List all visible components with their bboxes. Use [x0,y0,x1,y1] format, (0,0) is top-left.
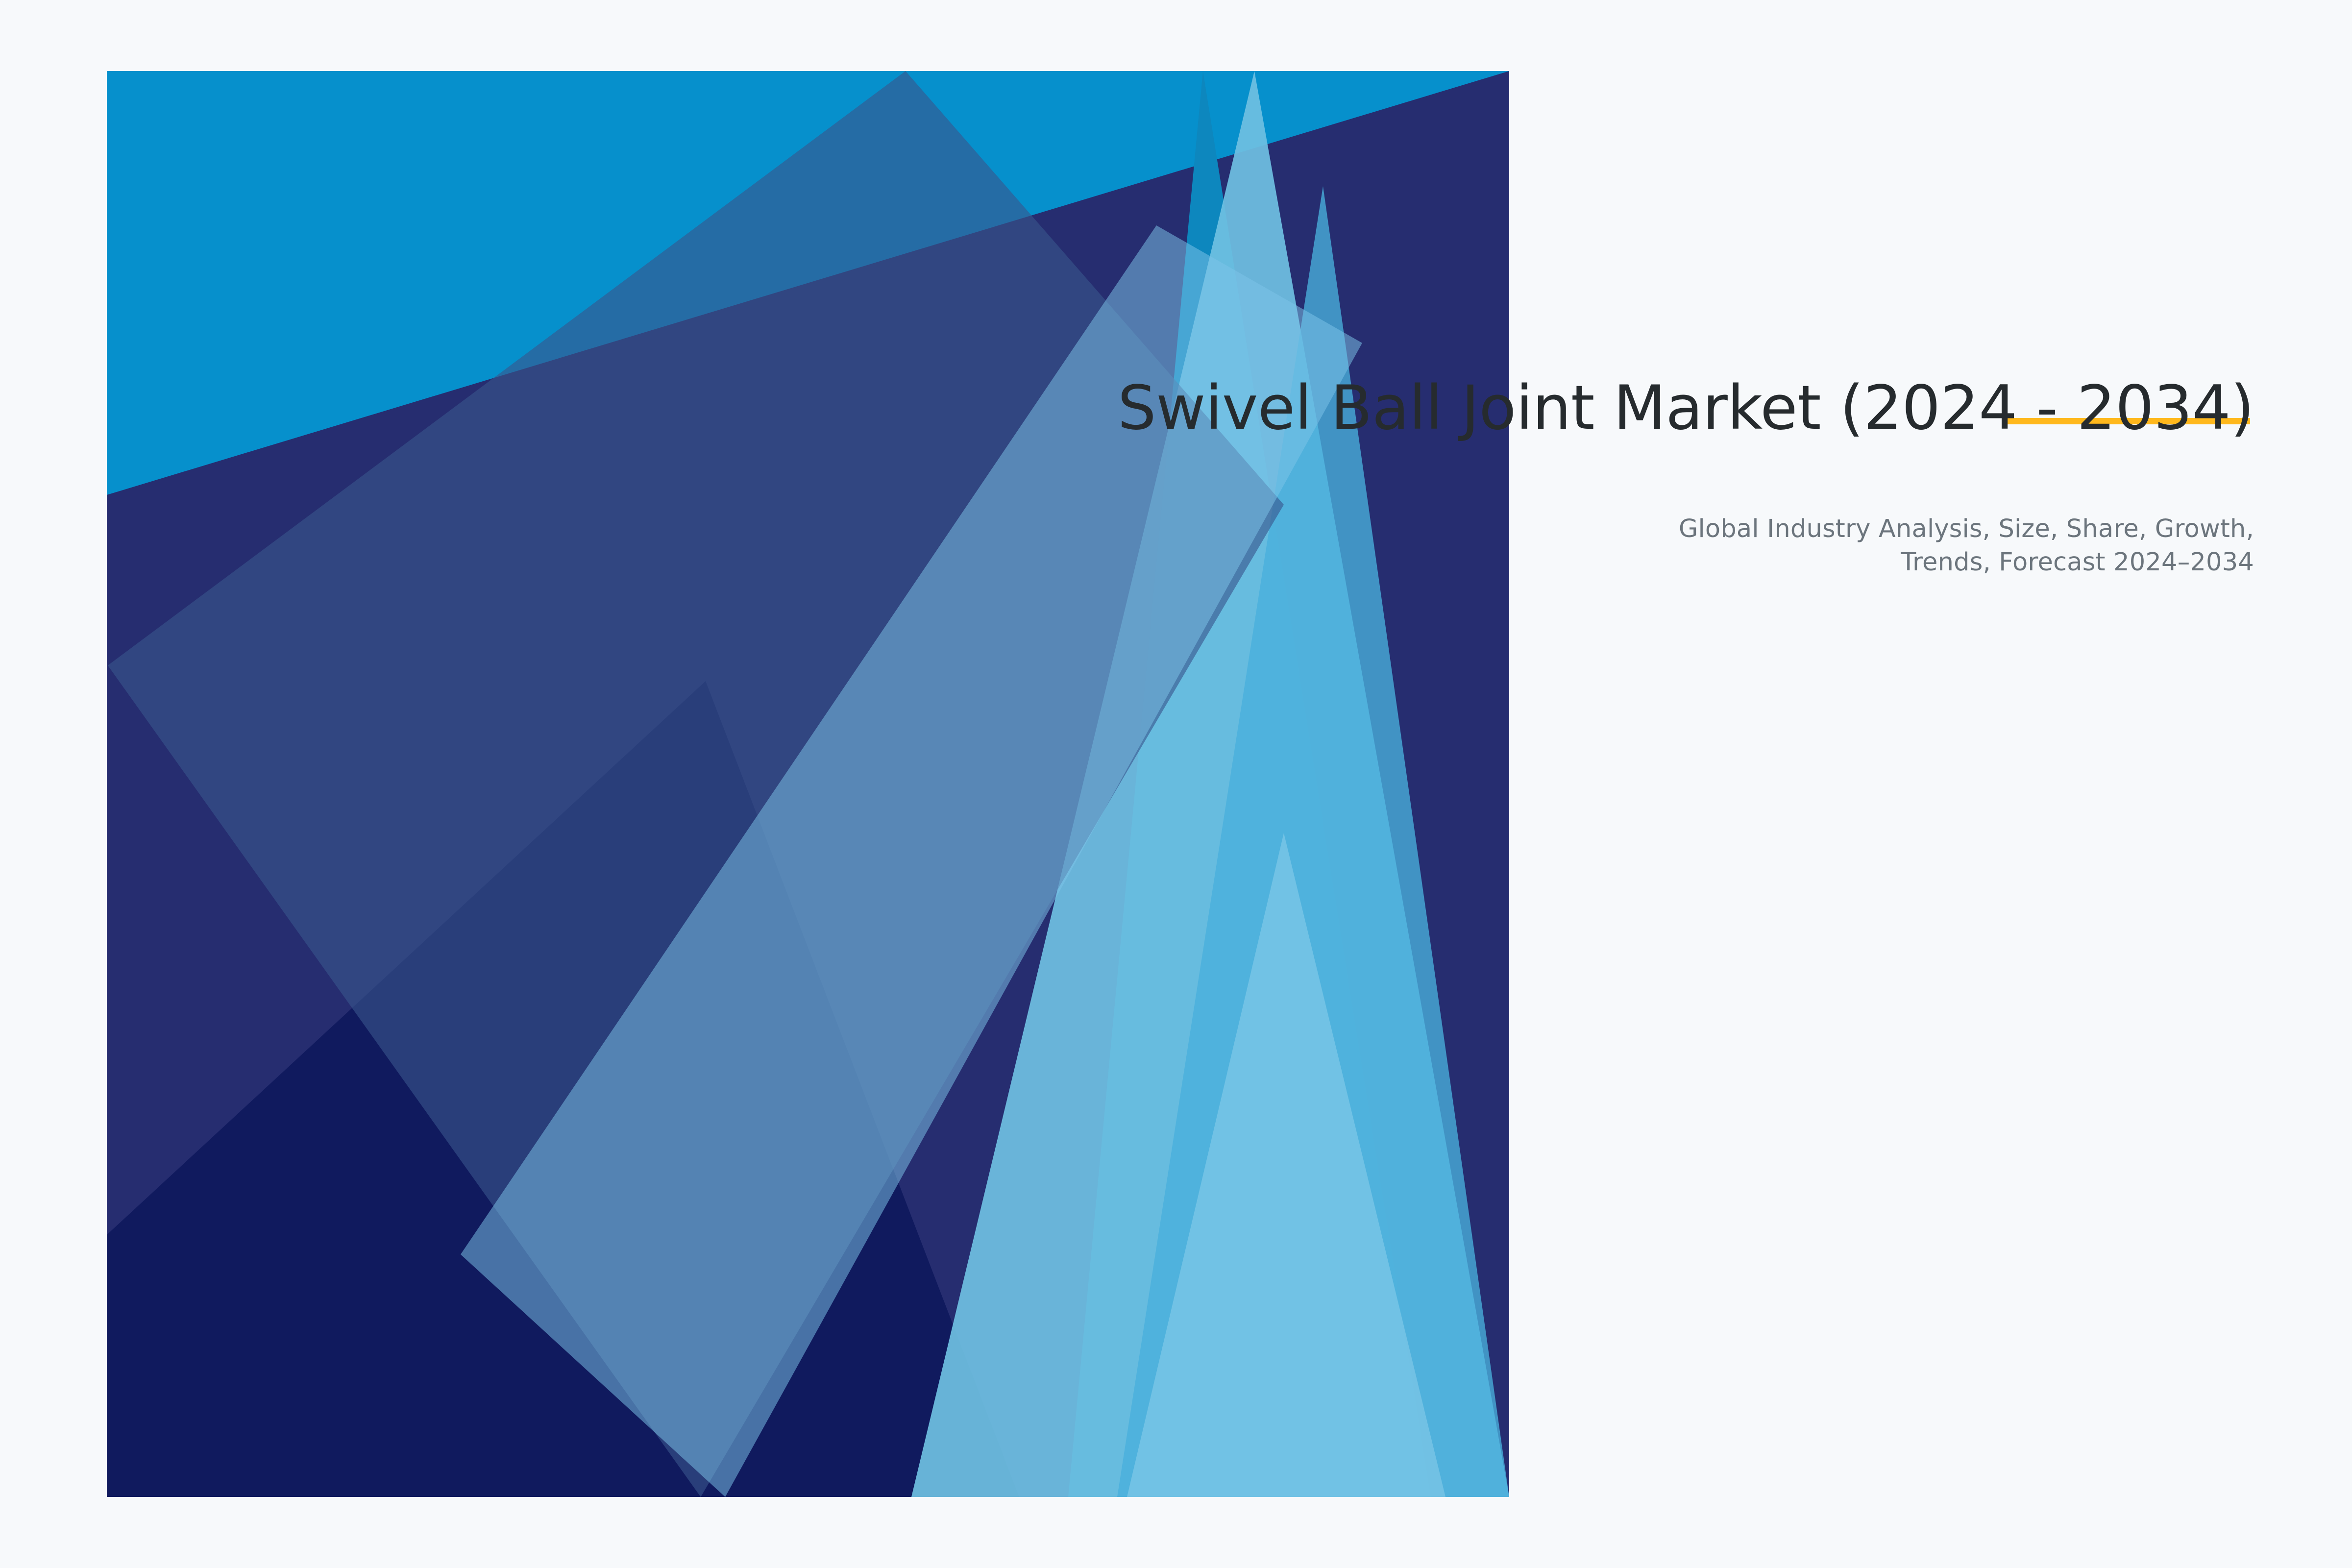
artwork-svg [0,0,2352,1568]
cover-text-block: Swivel Ball Joint Market (2024 - 2034) G… [1053,372,2254,579]
shape-slate-quad [108,71,1284,1497]
shape-deep-navy-mass [107,681,1019,1497]
page-title: Swivel Ball Joint Market (2024 - 2034) [1053,372,2254,445]
shape-sky-blue-band [911,71,1509,1497]
abstract-geometric-artwork [0,0,2352,1568]
title-wrapper: Swivel Ball Joint Market (2024 - 2034) [1053,372,2254,445]
report-cover: Swivel Ball Joint Market (2024 - 2034) G… [0,0,2352,1568]
shape-cyan-wedge [1068,71,1431,1497]
shape-pale-notch [1127,833,1445,1497]
shape-cyan-base [107,71,1509,1497]
page-subtitle: Global Industry Analysis, Size, Share, G… [1592,445,2254,580]
shape-navy-mass [107,71,1509,1497]
artwork-panel-group [107,71,1509,1497]
